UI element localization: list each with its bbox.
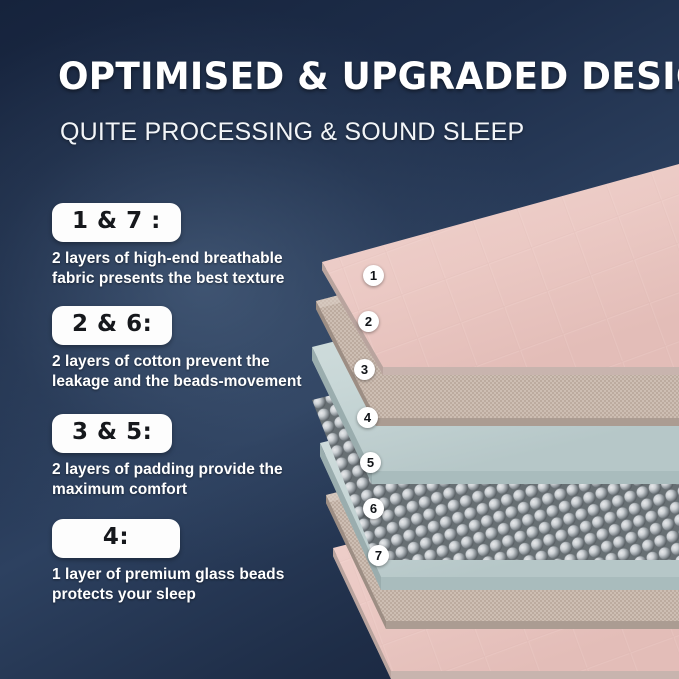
layer-badge-1: 1 — [363, 265, 384, 286]
layer-badge-4: 4 — [357, 407, 378, 428]
layer-badge-3: 3 — [354, 359, 375, 380]
layer-badge-5: 5 — [360, 452, 381, 473]
layer-badge-6: 6 — [363, 498, 384, 519]
layer-badge-2: 2 — [358, 311, 379, 332]
layer-badge-7: 7 — [368, 545, 389, 566]
infographic-canvas: OPTIMISED & UPGRADED DESIGN QUITE PROCES… — [0, 0, 679, 679]
layer-stack-diagram: 1 2 3 4 5 6 7 — [0, 0, 679, 679]
